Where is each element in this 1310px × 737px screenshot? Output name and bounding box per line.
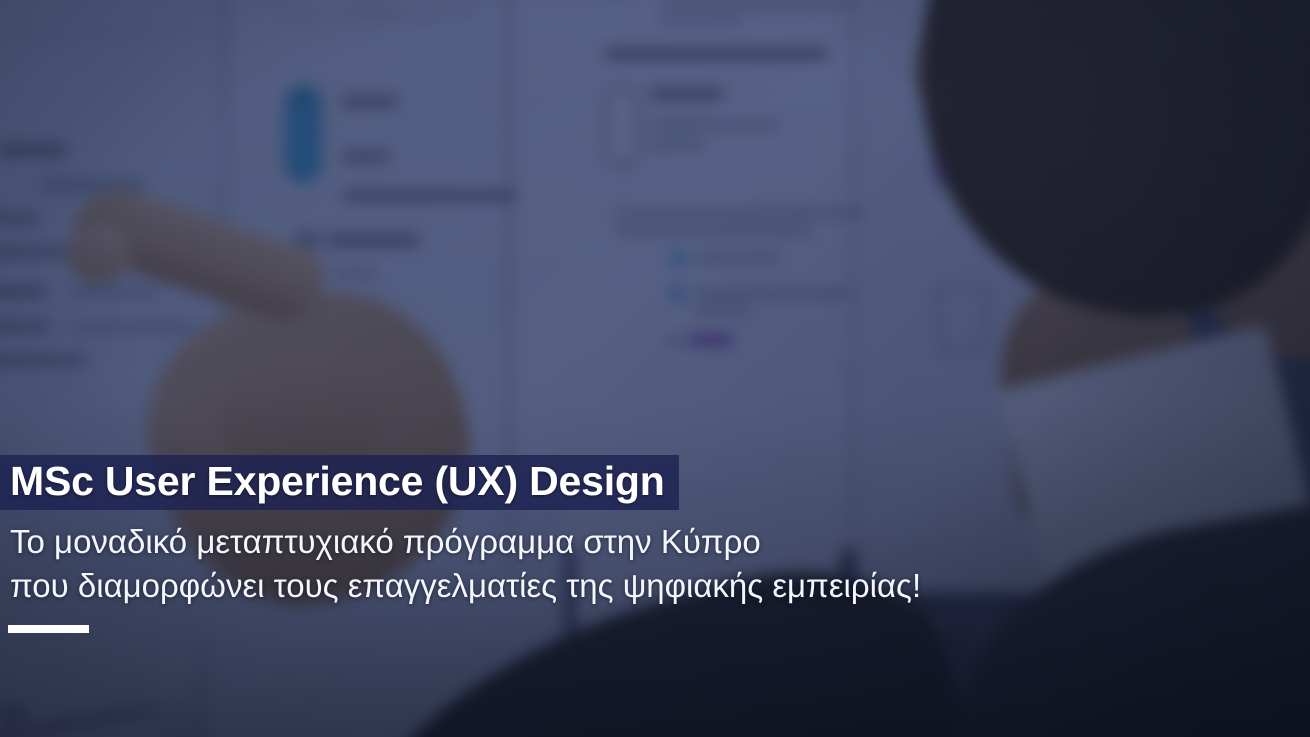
banner-copy: MSc User Experience (UX) Design Το μοναδ… [0,455,1310,633]
accent-rule [8,625,89,633]
banner-stage: MSc User Experience (UX) Design Το μοναδ… [0,0,1310,737]
title-highlight-box: MSc User Experience (UX) Design [0,455,679,510]
page-title: MSc User Experience (UX) Design [10,461,665,502]
page-subtitle: Το μοναδικό μεταπτυχιακό πρόγραμμα στην … [0,520,1310,607]
